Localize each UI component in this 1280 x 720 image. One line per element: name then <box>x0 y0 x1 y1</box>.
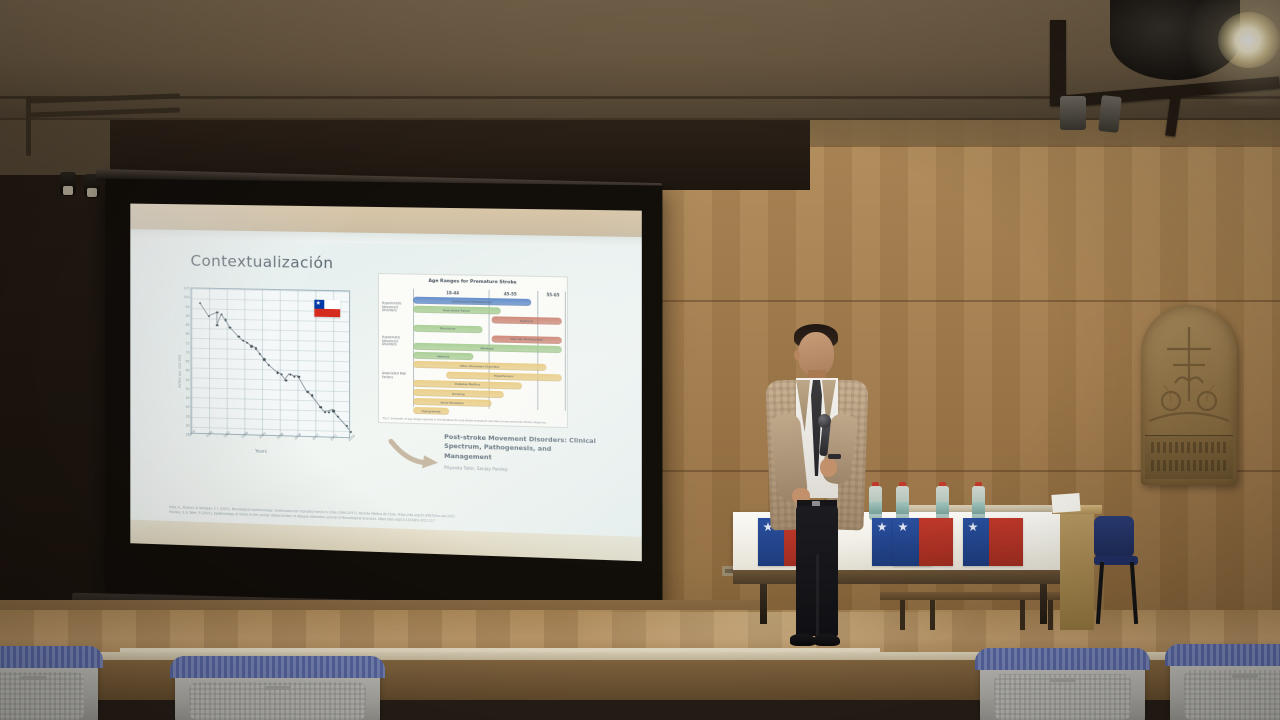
figure-bar-label: Vascular Parkinsonism <box>510 337 543 342</box>
dress-shoe-left <box>790 634 816 646</box>
age-range-figure: Age Ranges for Premature Stroke Fig 1. S… <box>378 273 568 428</box>
figure-age-label: 18-44 <box>446 290 459 295</box>
name-placard <box>963 518 1023 566</box>
chart-y-tick: 90 <box>186 314 192 318</box>
scatter-chart: AVISA per 100.000 ★ 10510095908580757065… <box>165 281 358 466</box>
figure-range-bar: Myoclonus <box>413 324 482 333</box>
chart-y-tick: 75 <box>186 341 192 345</box>
truss-vertical-post <box>1050 20 1066 106</box>
chart-y-tick: 30 <box>186 423 192 427</box>
figure-range-bar: Atrial Fibrillation <box>413 398 492 407</box>
figure-age-label: 45-55 <box>504 291 517 296</box>
chart-data-point <box>350 431 352 433</box>
figure-axis-line <box>565 292 566 411</box>
blue-chair-back[interactable] <box>1094 516 1134 558</box>
spotlight-lamp <box>1218 12 1280 68</box>
figure-bar-label: Atrial Fibrillation <box>440 400 464 405</box>
chart-y-tick: 100 <box>184 295 192 299</box>
wall-panel-seam <box>600 300 1280 302</box>
chart-y-tick: 70 <box>186 350 192 354</box>
reference-title: Post-stroke Movement Disorders: Clinical… <box>444 433 596 465</box>
microphone-head-icon <box>818 414 831 428</box>
khachkar-inscription-band <box>1145 435 1233 479</box>
figure-bar-label: Asterixis <box>437 354 450 358</box>
wall-conduit <box>26 96 31 156</box>
water-bottle[interactable] <box>936 482 949 520</box>
figure-bar-label: Post-stroke Tremor <box>443 308 470 313</box>
auditorium-seat[interactable] <box>0 652 98 720</box>
reference-authors: Priyanka Tater, Sanjay Pandey <box>444 465 596 475</box>
chart-y-tick: 50 <box>186 387 192 391</box>
figure-age-label: 55-65 <box>546 292 559 297</box>
chart-y-tick: 60 <box>186 369 192 373</box>
chart-y-tick: 85 <box>186 323 192 327</box>
projected-slide: Contextualización AVISA per 100.000 ★ 10… <box>130 204 642 562</box>
figure-bar-label: Hemichorea-Hemiballismus <box>452 299 492 304</box>
presenter-right-hand <box>820 458 837 477</box>
chart-x-tick: 1979 <box>188 429 196 437</box>
water-bottle[interactable] <box>972 482 985 520</box>
figure-bar-label: Hypertension <box>494 374 514 379</box>
chart-y-tick: 35 <box>186 414 192 418</box>
figure-bar-label: Smoking <box>452 391 465 395</box>
figure-bar-label: Athetosis <box>480 346 494 350</box>
figure-title: Age Ranges for Premature Stroke <box>428 279 516 286</box>
bench-leg <box>930 600 935 630</box>
figure-range-bar: Smoking <box>413 389 504 398</box>
figure-bar-label: Dystonia <box>520 319 533 323</box>
figure-group-label: Associated Risk Factors <box>382 372 408 380</box>
trouser-crease <box>816 554 819 636</box>
bench-leg <box>1048 600 1053 630</box>
bench-leg <box>1020 600 1025 630</box>
projection-screen: Contextualización AVISA per 100.000 ★ 10… <box>105 179 662 613</box>
chart-y-tick: 55 <box>186 378 192 382</box>
chart-y-tick: 45 <box>186 396 192 400</box>
figure-group-label: Hypokinetic Movement Disorders <box>382 336 408 347</box>
figure-range-bar: Dyslipidemia <box>413 407 449 415</box>
auditorium-seat[interactable] <box>175 662 380 720</box>
wristwatch <box>828 454 841 459</box>
auditorium-seat[interactable] <box>1170 650 1280 720</box>
figure-range-bar: Diabetes Mellitus <box>413 380 522 390</box>
chile-flag-icon: ★ <box>314 300 340 317</box>
figure-group-label: Hyperkinetic Movement Disorders <box>382 302 408 313</box>
chart-x-axis-label: Years <box>255 449 267 454</box>
figure-bar-label: Diabetes Mellitus <box>455 382 480 387</box>
presenter-ear <box>794 350 800 360</box>
chart-plot-area: ★ 10510095908580757065605550454035302519… <box>191 287 351 438</box>
water-bottle[interactable] <box>896 482 909 520</box>
bench-leg <box>900 600 905 630</box>
chart-y-tick: 80 <box>186 332 192 336</box>
auditorium-scene: Contextualización AVISA per 100.000 ★ 10… <box>0 0 1280 720</box>
chart-y-tick: 65 <box>186 359 192 363</box>
figure-bar-label: Dyslipidemia <box>422 409 441 414</box>
curved-arrow-icon <box>388 435 440 471</box>
chart-y-tick: 105 <box>184 286 192 290</box>
wall-spotlight <box>60 172 76 196</box>
auditorium-seat[interactable] <box>980 654 1145 720</box>
figure-range-bar: Hemichorea-Hemiballismus <box>413 297 531 306</box>
dress-shoe-right <box>814 634 840 646</box>
chart-y-tick: 95 <box>186 305 192 309</box>
figure-bar-label: Myoclonus <box>440 326 455 330</box>
figure-range-bar: Dystonia <box>492 317 562 326</box>
table-leg <box>1040 584 1047 624</box>
figure-range-bar: Asterixis <box>413 352 473 360</box>
figure-bar-label: Other Movement Disorders <box>460 364 500 369</box>
stage-spotlight <box>1098 95 1122 133</box>
presenter <box>756 318 876 663</box>
figure-range-bar: Post-stroke Tremor <box>413 306 501 315</box>
chart-y-tick: 40 <box>186 405 192 409</box>
name-placard <box>893 518 953 566</box>
chart-y-axis-label: AVISA per 100.000 <box>178 354 182 387</box>
figure-caption: Fig 1. Schematic of age ranges reported … <box>383 417 563 425</box>
wooden-lectern <box>1060 512 1094 630</box>
slide-title: Contextualización <box>191 252 334 272</box>
figure-range-bar: Other Movement Disorders <box>413 361 546 371</box>
stage-spotlight <box>1060 96 1086 130</box>
figure-range-bar: Hypertension <box>446 371 562 381</box>
figure-range-bar: Vascular Parkinsonism <box>492 335 562 344</box>
khachkar-relief <box>1141 305 1237 485</box>
lectern-paper <box>1051 493 1080 513</box>
